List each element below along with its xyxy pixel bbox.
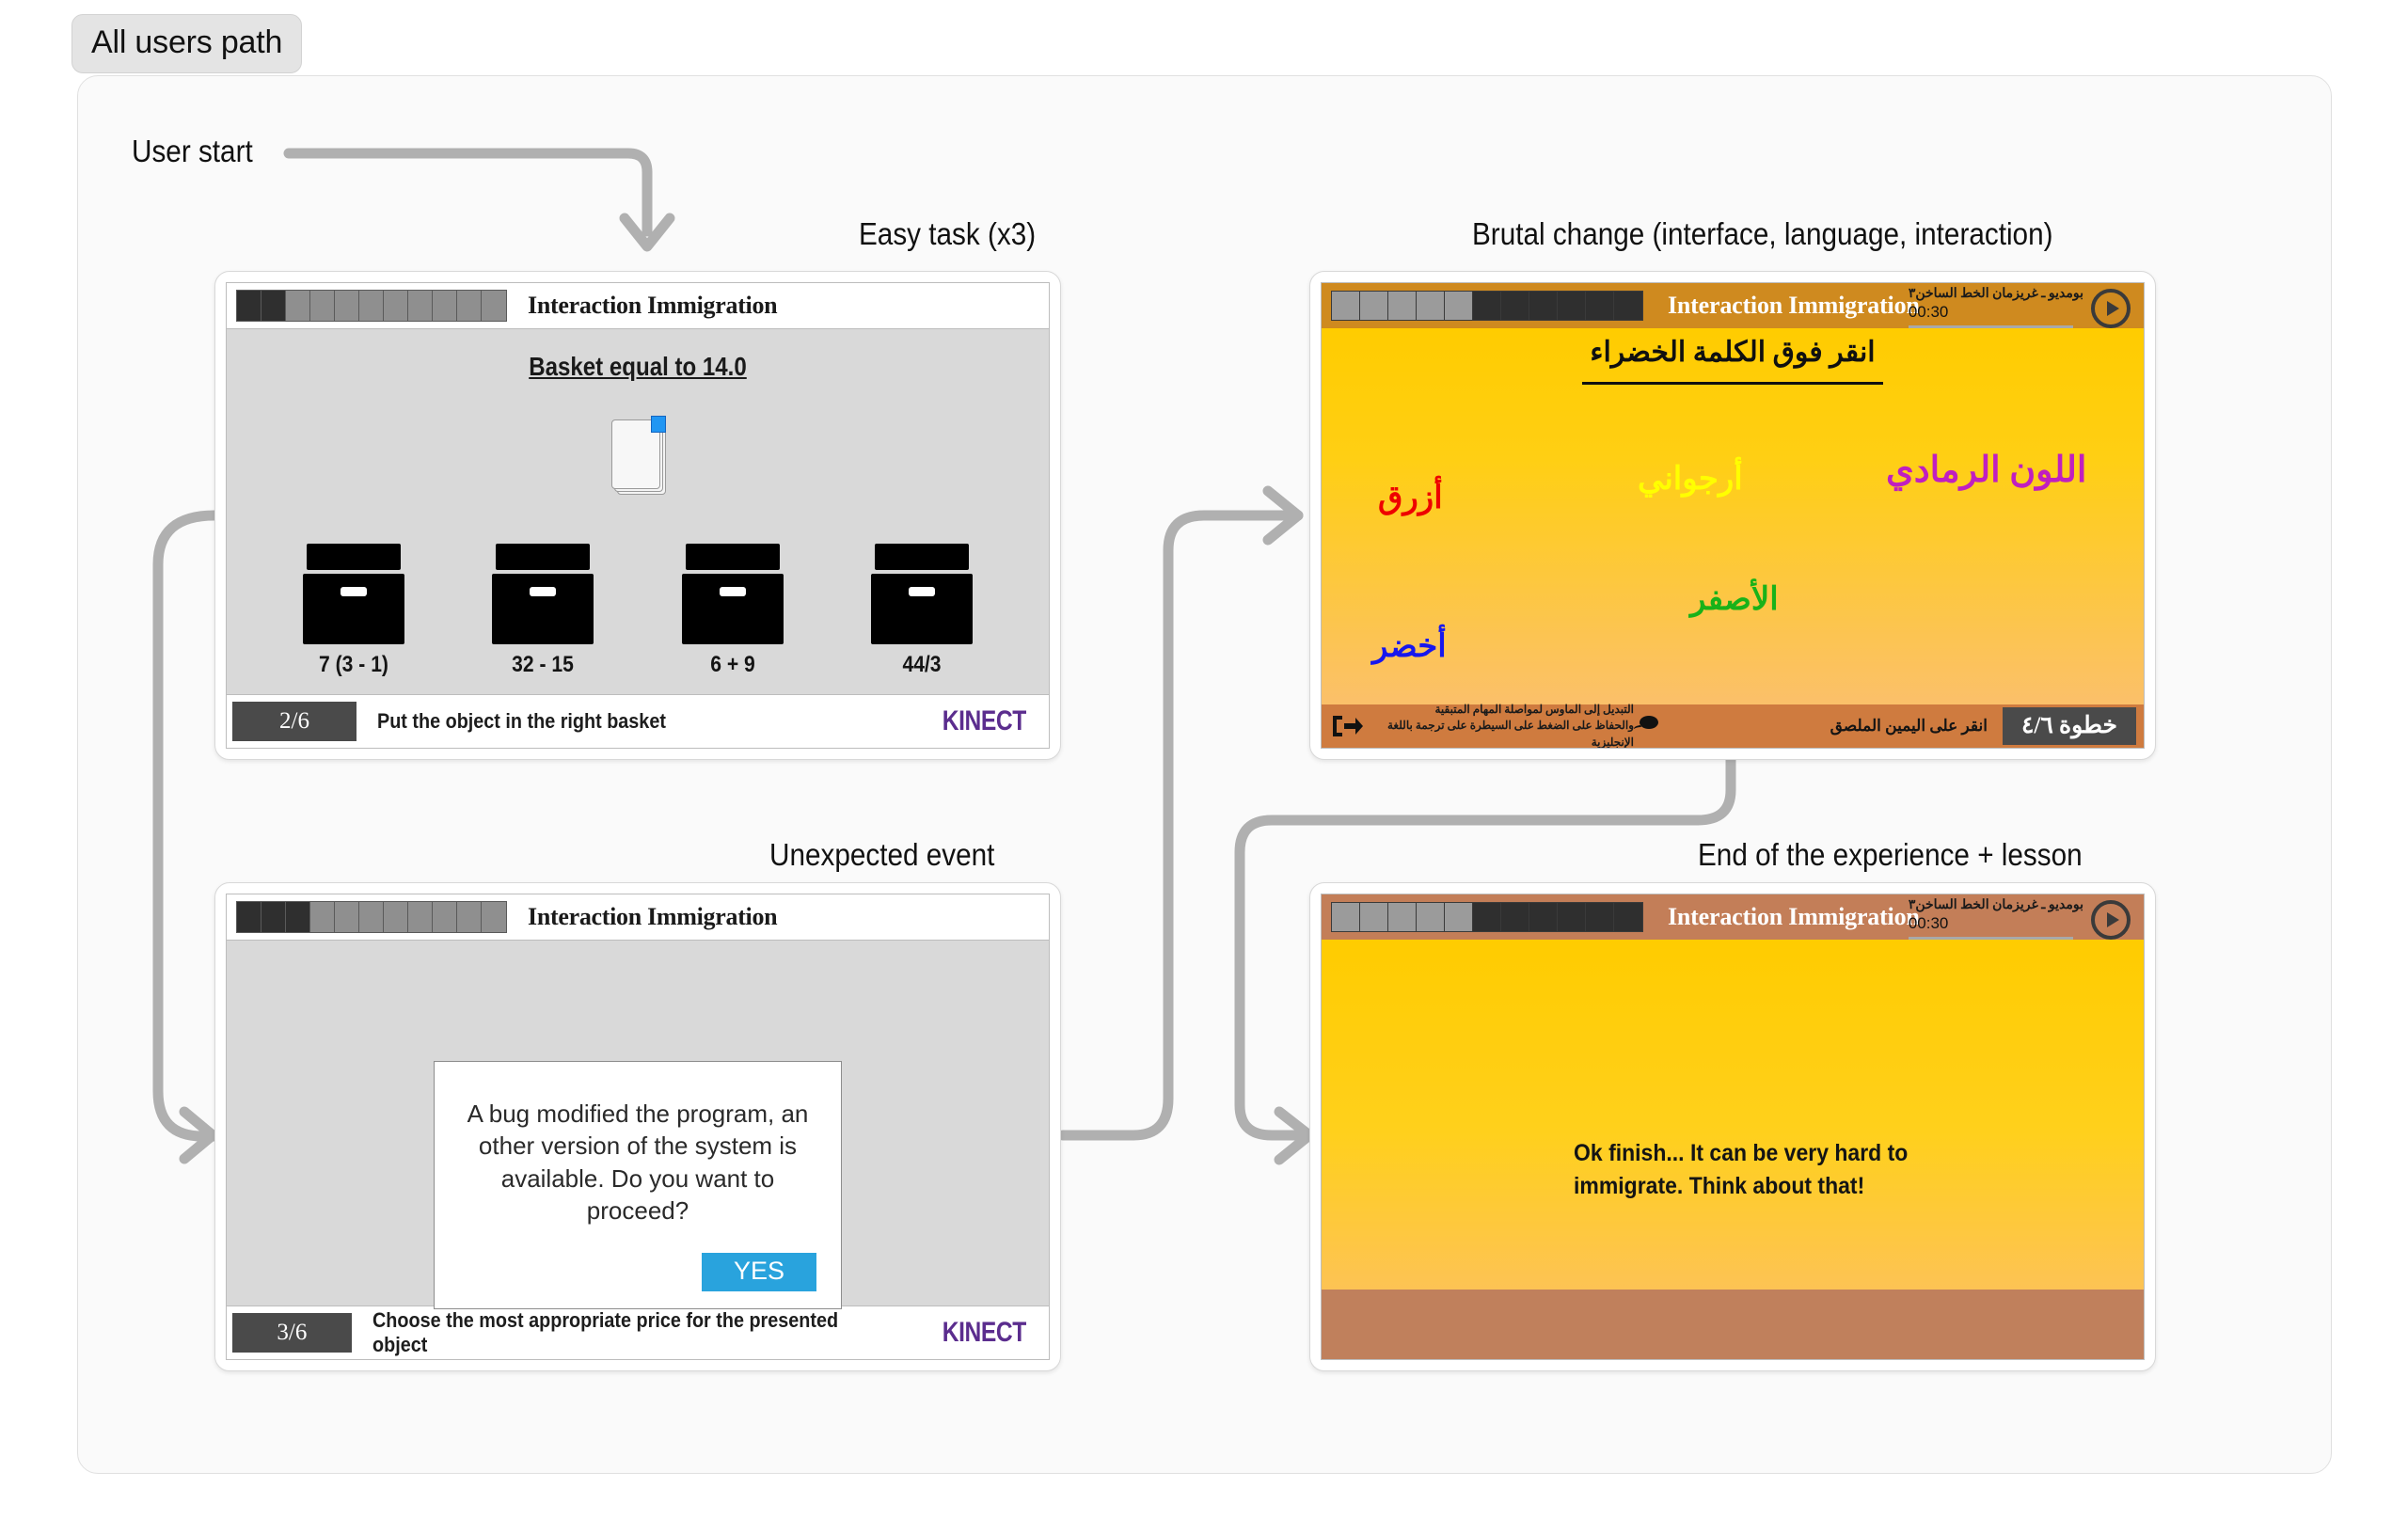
brutal-app-title: Interaction Immigration xyxy=(1668,292,1920,320)
label-brutal-change: Brutal change (interface, language, inte… xyxy=(1472,216,2052,252)
basket-caption: 44/3 xyxy=(878,652,967,678)
end-message-line1: Ok finish... It can be very hard to xyxy=(1574,1137,1908,1170)
end-footer xyxy=(1322,1290,2144,1359)
basket-box-icon xyxy=(682,574,784,644)
brutal-progress-bar xyxy=(1331,291,1643,321)
easy-header: Interaction Immigration xyxy=(227,283,1049,329)
basket-lid-icon xyxy=(875,544,969,570)
end-message-line2: immigrate. Think about that! xyxy=(1574,1170,1908,1203)
brutal-body: انقر فوق الكلمة الخضراء اللون الرمادي أر… xyxy=(1322,328,2144,704)
draggable-object-card[interactable] xyxy=(611,419,664,493)
end-header: Interaction Immigration بومديو ـ غريزمان… xyxy=(1322,894,2144,940)
basket-lid-icon xyxy=(686,544,780,570)
brutal-tip-line1: التبديل إلى الماوس لمواصلة المهام المتبق… xyxy=(1370,702,1634,718)
question-underline xyxy=(1582,382,1883,385)
unexpected-footer: 3/6 Choose the most appropriate price fo… xyxy=(227,1306,1049,1359)
easy-footer: 2/6 Put the object in the right basket K… xyxy=(227,694,1049,748)
screen-unexpected-event: Interaction Immigration A bug modified t… xyxy=(226,894,1050,1360)
basket-option[interactable]: 32 - 15 xyxy=(492,544,594,678)
label-end-of-experience: End of the experience + lesson xyxy=(1698,837,2083,873)
mouse-icon xyxy=(1632,714,1660,738)
basket-option[interactable]: 6 + 9 xyxy=(682,544,784,678)
easy-step-badge: 2/6 xyxy=(232,702,356,741)
audio-time: 00:30 xyxy=(1909,914,2083,933)
color-word-option[interactable]: أزرق xyxy=(1378,479,1443,516)
brutal-question: انقر فوق الكلمة الخضراء xyxy=(1322,328,2144,385)
basket-box-icon xyxy=(871,574,973,644)
brutal-hint: انقر على اليمين الملصق xyxy=(1830,717,1988,736)
basket-option[interactable]: 7 (3 - 1) xyxy=(303,544,404,678)
brutal-header: Interaction Immigration بومديو ـ غريزمان… xyxy=(1322,283,2144,328)
object-badge-icon xyxy=(651,416,666,433)
bug-dialog: A bug modified the program, an other ver… xyxy=(434,1061,842,1309)
easy-instruction: Put the object in the right basket xyxy=(377,709,878,734)
easy-prompt: Basket equal to 14.0 xyxy=(284,329,991,382)
device-unexpected-event: Interaction Immigration A bug modified t… xyxy=(214,882,1061,1371)
end-app-title: Interaction Immigration xyxy=(1668,903,1920,931)
brutal-tip-line2: والحفاظ على الضغط على السيطرة على ترجمة … xyxy=(1370,718,1634,749)
label-easy-task: Easy task (x3) xyxy=(859,216,1036,252)
easy-body: Basket equal to 14.0 7 (3 - 1) xyxy=(227,329,1049,694)
screen-end-of-experience: Interaction Immigration بومديو ـ غريزمان… xyxy=(1321,894,2145,1360)
basket-caption: 6 + 9 xyxy=(688,652,777,678)
unexpected-app-title: Interaction Immigration xyxy=(528,903,777,931)
color-word-option[interactable]: أرجواني xyxy=(1638,460,1743,498)
end-progress-bar xyxy=(1331,902,1643,932)
label-unexpected-event: Unexpected event xyxy=(769,837,994,873)
page-title-chip: All users path xyxy=(71,14,302,73)
exit-icon[interactable] xyxy=(1331,714,1363,738)
audio-player[interactable]: بومديو ـ غريزمان الخط الساخن٣ 00:30 xyxy=(1909,286,2131,328)
basket-caption: 7 (3 - 1) xyxy=(309,652,398,678)
screen-easy-task: Interaction Immigration Basket equal to … xyxy=(226,282,1050,749)
basket-box-icon xyxy=(303,574,404,644)
color-word-option[interactable]: اللون الرمادي xyxy=(1886,449,2086,491)
easy-app-title: Interaction Immigration xyxy=(528,292,777,320)
basket-caption: 32 - 15 xyxy=(499,652,588,678)
label-user-start: User start xyxy=(132,134,253,169)
basket-lid-icon xyxy=(496,544,590,570)
unexpected-step-badge: 3/6 xyxy=(232,1313,352,1353)
play-icon[interactable] xyxy=(2091,289,2131,328)
exit-arrow-icon xyxy=(1331,714,1363,738)
bug-dialog-message: A bug modified the program, an other ver… xyxy=(459,1098,816,1226)
device-easy-task: Interaction Immigration Basket equal to … xyxy=(214,271,1061,760)
screen-brutal-change: Interaction Immigration بومديو ـ غريزمان… xyxy=(1321,282,2145,749)
color-word-option[interactable]: الأصفر xyxy=(1690,580,1779,618)
kinect-brand-logo: KINECT xyxy=(943,1317,1026,1349)
basket-row: 7 (3 - 1) 32 - 15 6 + 9 xyxy=(227,544,1049,678)
brutal-footer: خطوة ٤/٦ انقر على اليمين الملصق التبديل … xyxy=(1322,704,2144,748)
basket-box-icon xyxy=(492,574,594,644)
dialog-yes-button[interactable]: YES xyxy=(702,1253,816,1291)
easy-progress-bar xyxy=(236,290,507,322)
color-word-option[interactable]: أخضر xyxy=(1372,627,1447,665)
kinect-brand-logo: KINECT xyxy=(943,705,1026,737)
end-message: Ok finish... It can be very hard to immi… xyxy=(1574,1137,1908,1203)
unexpected-instruction: Choose the most appropriate price for th… xyxy=(372,1308,878,1357)
device-brutal-change: Interaction Immigration بومديو ـ غريزمان… xyxy=(1309,271,2156,760)
unexpected-body: A bug modified the program, an other ver… xyxy=(227,941,1049,1306)
end-body: Ok finish... It can be very hard to immi… xyxy=(1322,940,2144,1290)
diagram-root: All users path User start Easy task (x3)… xyxy=(0,0,2408,1535)
device-end-of-experience: Interaction Immigration بومديو ـ غريزمان… xyxy=(1309,882,2156,1371)
brutal-step-badge: خطوة ٤/٦ xyxy=(2003,707,2136,745)
unexpected-header: Interaction Immigration xyxy=(227,894,1049,941)
audio-player[interactable]: بومديو ـ غريزمان الخط الساخن٣ 00:30 xyxy=(1909,897,2131,940)
unexpected-progress-bar xyxy=(236,901,507,933)
play-icon[interactable] xyxy=(2091,900,2131,940)
basket-lid-icon xyxy=(307,544,401,570)
audio-time: 00:30 xyxy=(1909,303,2083,322)
basket-option[interactable]: 44/3 xyxy=(871,544,973,678)
audio-track-title: بومديو ـ غريزمان الخط الساخن٣ xyxy=(1909,897,2083,913)
audio-track-title: بومديو ـ غريزمان الخط الساخن٣ xyxy=(1909,286,2083,302)
brutal-tip: التبديل إلى الماوس لمواصلة المهام المتبق… xyxy=(1370,702,1634,749)
